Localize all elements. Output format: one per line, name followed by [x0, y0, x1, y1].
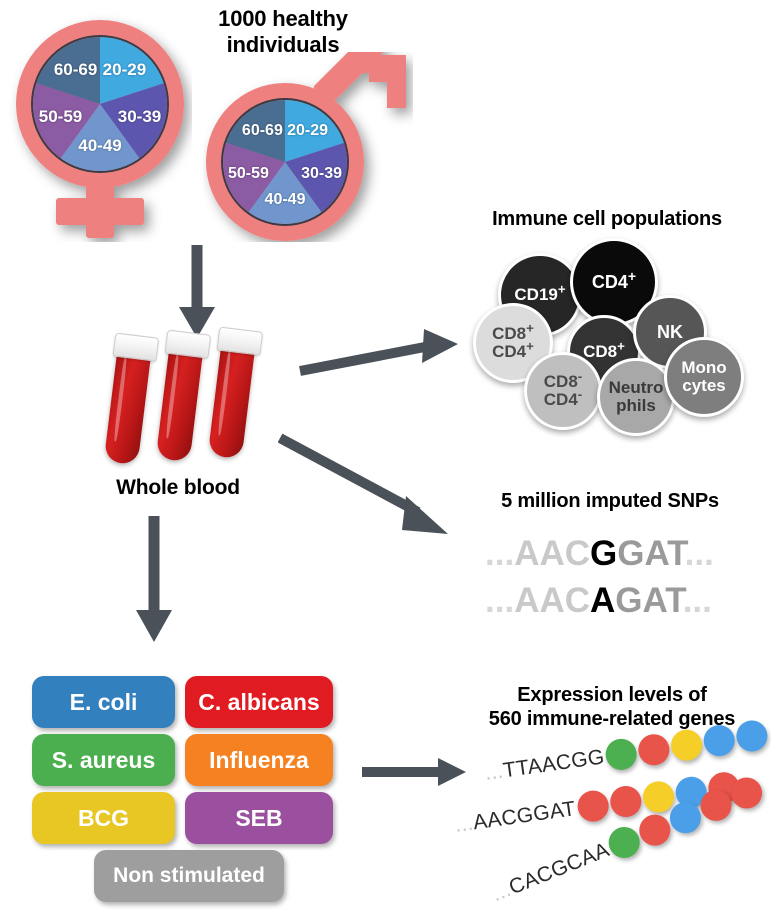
snp-variant: A: [590, 581, 615, 620]
immune-cell-label: NK: [657, 323, 683, 342]
female-gender-symbol: 20-2930-3940-4950-5960-69: [8, 12, 192, 242]
cohort-title: 1000 healthy individuals: [168, 6, 398, 58]
immune-cell-label: CD8+: [583, 343, 625, 361]
stimulation-seb[interactable]: SEB: [185, 792, 333, 844]
immune-cell-nk[interactable]: NK: [633, 295, 707, 369]
snp-variant: G: [590, 534, 617, 573]
stimulation-non-stimulated[interactable]: Non stimulated: [94, 850, 284, 902]
expression-strand-group: ...TTAACGG...AACGGAT...CACGCAA: [455, 744, 771, 919]
snp-sequence-row: ...AACGGAT...: [485, 534, 714, 574]
expression-bead: [669, 728, 704, 763]
immune-cell-label: Neutrophils: [609, 379, 664, 414]
age-label-50-59: 50-59: [228, 165, 269, 183]
age-label-30-39: 30-39: [301, 165, 342, 183]
tube-body: [208, 338, 256, 459]
snps-title: 5 million imputed SNPs: [460, 490, 760, 514]
expression-bead: [702, 723, 737, 758]
male-age-pie: 20-2930-3940-4950-5960-69: [223, 100, 347, 224]
age-label-20-29: 20-29: [103, 60, 146, 80]
expression-bead: [637, 732, 672, 767]
stimulation-label: Non stimulated: [113, 864, 265, 888]
age-label-20-29: 20-29: [287, 122, 328, 140]
age-label-40-49: 40-49: [265, 191, 306, 209]
expression-sequence-text: ...TTAACGG: [483, 745, 606, 786]
snp-after: GAT: [617, 534, 684, 573]
expression-bead: [735, 718, 770, 753]
arrow-cohort-to-blood: [175, 245, 219, 340]
expression-sequence-text: ...CACGCAA: [489, 838, 613, 907]
age-label-50-59: 50-59: [39, 107, 82, 127]
age-label-40-49: 40-49: [78, 136, 121, 156]
arrow-blood-to-stimulations: [132, 516, 176, 644]
expression-bead: [604, 737, 639, 772]
snps-title-text: 5 million imputed SNPs: [501, 490, 719, 512]
immune-cell-label: Monocytes: [681, 359, 726, 394]
immune-cell-cd4[interactable]: CD4+: [570, 238, 658, 326]
immune-cell-label: CD19+: [514, 286, 565, 304]
immune-cell-mono-cytes[interactable]: Monocytes: [664, 337, 744, 417]
blood-tubes-group: [108, 340, 288, 470]
stimulation-panel: E. coliC. albicansS. aureusInfluenzaBCGS…: [32, 676, 332, 896]
stimulation-label: SEB: [235, 805, 282, 832]
immune-title-text: Immune cell populations: [492, 208, 722, 230]
whole-blood-label: Whole blood: [78, 476, 278, 501]
expression-bead: [608, 784, 643, 819]
arrow-blood-to-immune: [298, 325, 462, 381]
snp-sequence-row: ...AACAGAT...: [485, 581, 712, 621]
snp-suffix-dots: ...: [685, 534, 714, 573]
blood-tube: [156, 341, 204, 462]
snp-before: AAC: [514, 534, 590, 573]
snp-sequence-group: ...AACGGAT......AACAGAT...: [485, 534, 745, 624]
expression-sequence-text: ...AACGGAT: [453, 797, 577, 838]
arrow-stimulations-to-expression: [360, 752, 470, 792]
age-label-60-69: 60-69: [242, 122, 283, 140]
cohort-title-text: 1000 healthy individuals: [218, 6, 348, 57]
stimulation-e-coli[interactable]: E. coli: [32, 676, 175, 728]
whole-blood-label-text: Whole blood: [116, 476, 240, 499]
stimulation-label: BCG: [78, 805, 129, 832]
stimulation-s-aureus[interactable]: S. aureus: [32, 734, 175, 786]
snp-prefix-dots: ...: [485, 534, 514, 573]
expression-title-line1: Expression levels of: [458, 684, 766, 708]
tube-body: [156, 341, 204, 462]
stimulation-label: E. coli: [70, 689, 138, 716]
stimulation-c-albicans[interactable]: C. albicans: [185, 676, 333, 728]
age-label-60-69: 60-69: [54, 60, 97, 80]
immune-cell-label: CD8-CD4-: [544, 373, 582, 408]
immune-cell-label: CD8+CD4+: [492, 325, 534, 360]
blood-tube: [104, 344, 152, 465]
immune-cell-cd19[interactable]: CD19+: [498, 253, 582, 337]
arrow-blood-to-snps: [278, 430, 462, 540]
snp-suffix-dots: ...: [683, 581, 712, 620]
snp-prefix-dots: ...: [485, 581, 514, 620]
immune-cell-cd8-cd4[interactable]: CD8+CD4+: [473, 303, 553, 383]
immune-cell-neutro-phils[interactable]: Neutrophils: [597, 358, 675, 436]
tube-body: [104, 344, 152, 465]
male-gender-symbol: 20-2930-3940-4950-5960-69: [203, 52, 413, 242]
age-label-30-39: 30-39: [118, 107, 161, 127]
stimulation-label: Influenza: [209, 747, 309, 774]
stimulation-influenza[interactable]: Influenza: [185, 734, 333, 786]
immune-cell-cd8-cd4[interactable]: CD8-CD4-: [524, 352, 602, 430]
snp-before: AAC: [514, 581, 590, 620]
snp-after: GAT: [615, 581, 682, 620]
immune-cell-label: CD4+: [592, 273, 636, 292]
female-age-pie: 20-2930-3940-4950-5960-69: [33, 37, 167, 171]
immune-cell-cd8[interactable]: CD8+: [567, 315, 641, 389]
expression-bead: [575, 789, 610, 824]
stimulation-label: C. albicans: [198, 689, 319, 716]
stimulation-bcg[interactable]: BCG: [32, 792, 175, 844]
blood-tube: [208, 338, 256, 459]
immune-title: Immune cell populations: [452, 208, 762, 232]
stimulation-label: S. aureus: [52, 747, 156, 774]
